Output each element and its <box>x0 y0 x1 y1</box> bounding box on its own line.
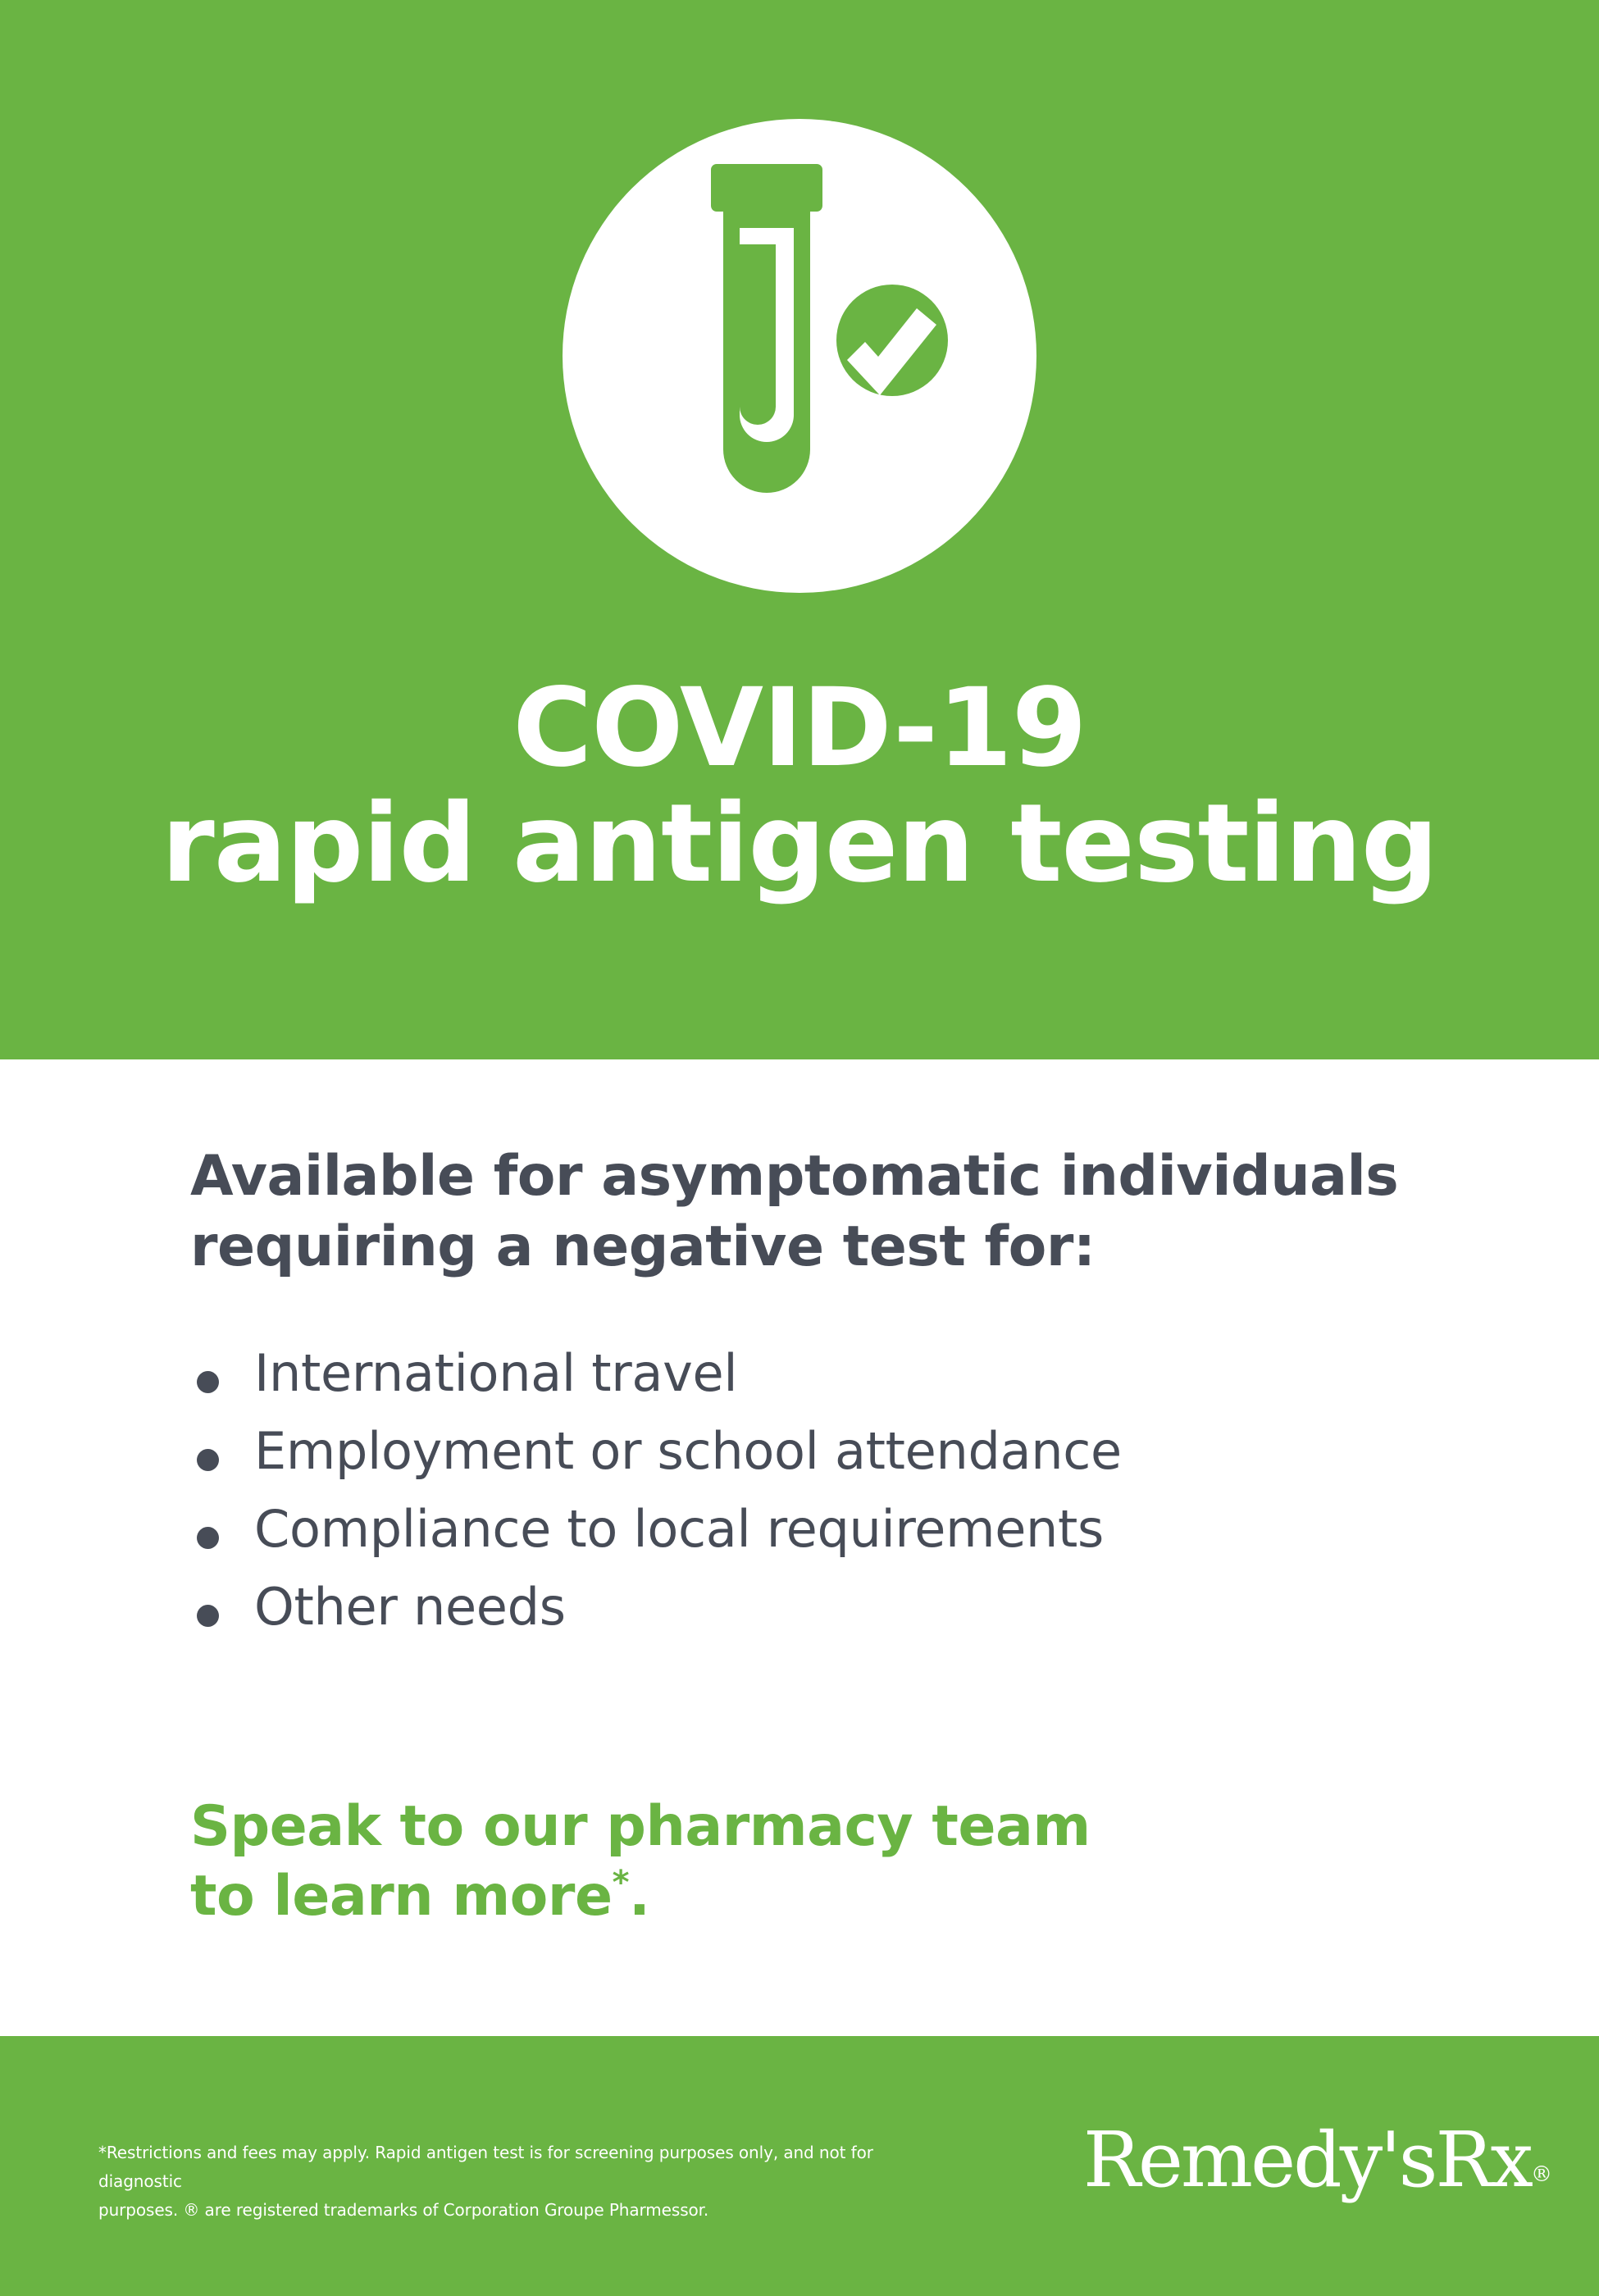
call-to-action: Speak to our pharmacy team to learn more… <box>190 1792 1420 1931</box>
headline-line-2: rapid antigen testing <box>0 786 1599 902</box>
cta-line-2: to learn more*. <box>190 1861 1420 1931</box>
body-section: Available for asymptomatic individuals r… <box>0 1059 1599 2036</box>
cta-line-2-text: to learn more <box>190 1864 613 1929</box>
headline-line-1: COVID-19 <box>0 671 1599 786</box>
poster-root: COVID-19 rapid antigen testing Available… <box>0 0 1599 2296</box>
bullet-dot-icon <box>197 1527 219 1549</box>
list-item-label: Compliance to local requirements <box>254 1499 1104 1559</box>
list-item: International travel <box>190 1346 1502 1400</box>
disclaimer-line-1: *Restrictions and fees may apply. Rapid … <box>98 2139 943 2196</box>
eligibility-list: International travel Employment or schoo… <box>190 1346 1502 1658</box>
bullet-dot-icon <box>197 1449 219 1471</box>
cta-period: . <box>629 1864 649 1929</box>
body-heading-line-2: requiring a negative test for: <box>190 1212 1486 1282</box>
registered-trademark-icon: ® <box>1531 2162 1552 2187</box>
list-item: Compliance to local requirements <box>190 1502 1502 1556</box>
cta-line-1: Speak to our pharmacy team <box>190 1792 1420 1861</box>
disclaimer-text: *Restrictions and fees may apply. Rapid … <box>98 2139 943 2225</box>
brand-logo: Remedy'sRx® <box>1083 2116 1552 2204</box>
body-heading: Available for asymptomatic individuals r… <box>190 1141 1486 1282</box>
body-heading-line-1: Available for asymptomatic individuals <box>190 1141 1486 1212</box>
page-title: COVID-19 rapid antigen testing <box>0 671 1599 902</box>
brand-logo-name: Remedy'sRx <box>1083 2116 1531 2204</box>
list-item-label: Employment or school attendance <box>254 1421 1122 1481</box>
list-item-label: International travel <box>254 1343 737 1403</box>
footer-band: *Restrictions and fees may apply. Rapid … <box>0 2036 1599 2296</box>
bullet-dot-icon <box>197 1605 219 1627</box>
cta-asterisk: * <box>613 1864 629 1902</box>
bullet-dot-icon <box>197 1371 219 1393</box>
test-tube-check-icon <box>563 119 1036 593</box>
header-band: COVID-19 rapid antigen testing <box>0 0 1599 1059</box>
disclaimer-line-2: purposes. ® are registered trademarks of… <box>98 2196 943 2225</box>
list-item: Other needs <box>190 1580 1502 1633</box>
list-item-label: Other needs <box>254 1577 566 1637</box>
list-item: Employment or school attendance <box>190 1424 1502 1478</box>
